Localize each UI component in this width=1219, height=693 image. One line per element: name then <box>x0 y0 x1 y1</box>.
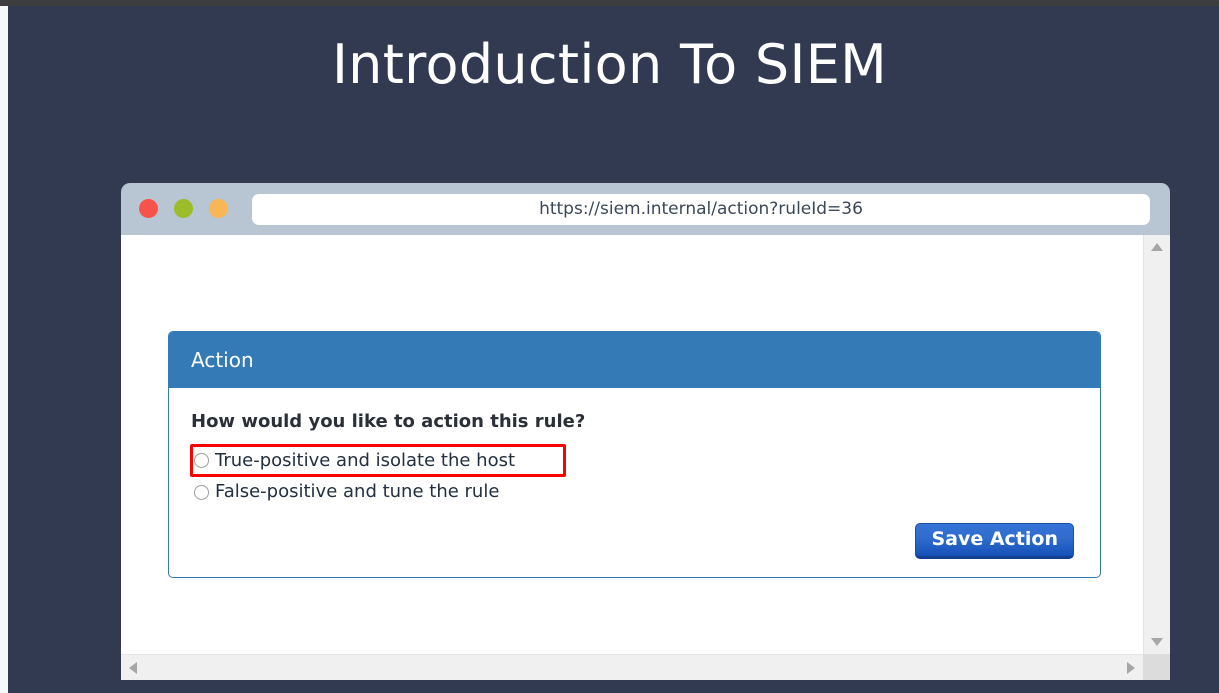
page-title: Introduction To SIEM <box>0 31 1219 99</box>
browser-window: https://siem.internal/action?ruleId=36 A… <box>121 183 1170 680</box>
left-edge-strip <box>0 6 8 693</box>
top-edge-strip <box>0 0 1219 6</box>
question-label: How would you like to action this rule? <box>191 410 1078 434</box>
radio-label-true-positive: True-positive and isolate the host <box>215 450 515 472</box>
action-panel: Action How would you like to action this… <box>168 331 1101 578</box>
radio-button-true-positive[interactable] <box>194 453 209 468</box>
window-minimize-icon[interactable] <box>174 199 193 218</box>
triangle-left-icon[interactable] <box>129 662 137 674</box>
panel-header: Action <box>169 332 1100 388</box>
radio-button-false-positive[interactable] <box>194 485 209 500</box>
address-bar-text: https://siem.internal/action?ruleId=36 <box>539 194 863 225</box>
window-close-icon[interactable] <box>139 199 158 218</box>
window-maximize-icon[interactable] <box>209 199 228 218</box>
slide-canvas: Introduction To SIEM https://siem.intern… <box>0 0 1219 693</box>
radio-option-true-positive[interactable]: True-positive and isolate the host <box>190 444 566 477</box>
radio-option-false-positive[interactable]: False-positive and tune the rule <box>191 477 567 507</box>
triangle-up-icon[interactable] <box>1151 243 1163 251</box>
triangle-down-icon[interactable] <box>1151 638 1163 646</box>
page-content: Action How would you like to action this… <box>121 235 1143 654</box>
scrollbar-corner <box>1143 654 1170 680</box>
panel-actions: Save Action <box>191 523 1078 559</box>
radio-label-false-positive: False-positive and tune the rule <box>215 481 499 503</box>
vertical-scrollbar[interactable] <box>1143 235 1170 654</box>
browser-viewport: Action How would you like to action this… <box>121 235 1170 680</box>
horizontal-scrollbar[interactable] <box>121 654 1143 680</box>
panel-body: How would you like to action this rule? … <box>169 388 1100 577</box>
browser-titlebar: https://siem.internal/action?ruleId=36 <box>121 183 1170 235</box>
save-action-button[interactable]: Save Action <box>915 523 1074 559</box>
panel-title: Action <box>191 348 254 372</box>
triangle-right-icon[interactable] <box>1127 662 1135 674</box>
address-bar[interactable]: https://siem.internal/action?ruleId=36 <box>252 194 1150 225</box>
